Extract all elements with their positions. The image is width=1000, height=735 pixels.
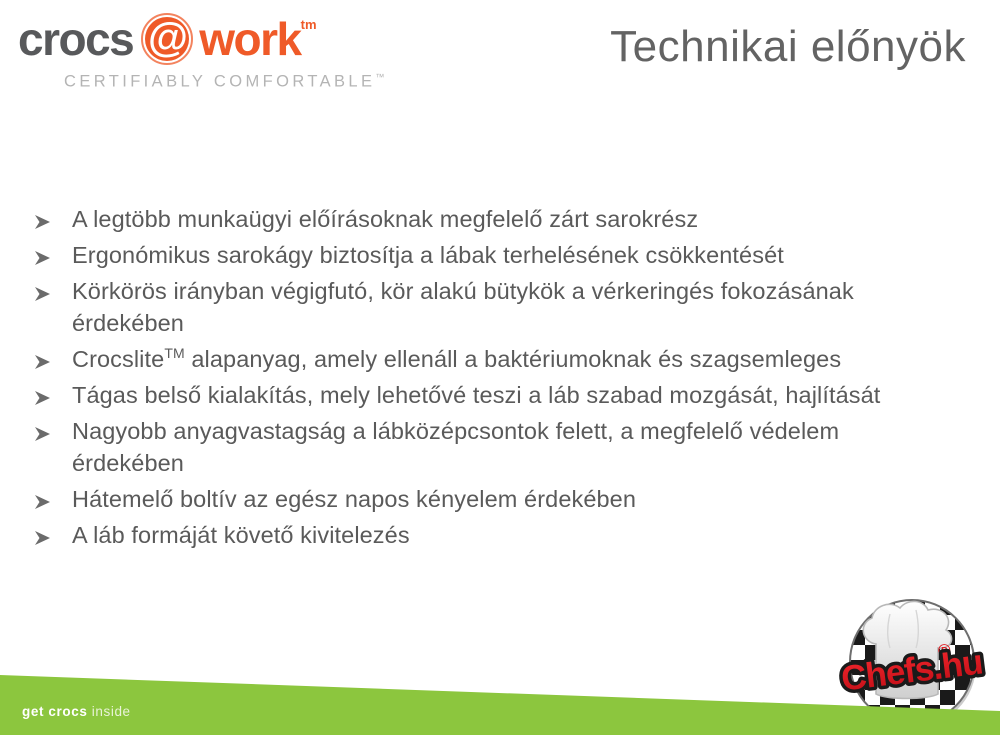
arrow-bullet-icon bbox=[34, 203, 72, 229]
crocs-at-work-logo: crocs @ work tm CERTIFIABLY COMFORTABLE™ bbox=[18, 14, 398, 92]
crocslite-rest: alapanyag, amely ellenáll a baktériumokn… bbox=[185, 346, 841, 372]
brand-wordmark: crocs @ work tm bbox=[18, 14, 398, 64]
list-item: Tágas belső kialakítás, mely lehetővé te… bbox=[34, 379, 924, 411]
brand-word-work: work bbox=[199, 16, 300, 62]
list-item: CrocsliteTM alapanyag, amely ellenáll a … bbox=[34, 343, 924, 375]
list-item: Nagyobb anyagvastagság a lábközépcsontok… bbox=[34, 415, 924, 479]
list-item-label: Körkörös irányban végigfutó, kör alakú b… bbox=[72, 275, 924, 339]
list-item: A láb formáját követő kivitelezés bbox=[34, 519, 924, 551]
at-symbol-icon: @ bbox=[141, 13, 193, 65]
brand-tagline: CERTIFIABLY COMFORTABLE™ bbox=[64, 72, 384, 92]
arrow-bullet-icon bbox=[34, 415, 72, 441]
brand-tagline-trademark: ™ bbox=[375, 72, 384, 82]
bullet-list: A legtöbb munkaügyi előírásoknak megfele… bbox=[34, 203, 924, 555]
list-item-label: Tágas belső kialakítás, mely lehetővé te… bbox=[72, 379, 924, 411]
list-item: Körkörös irányban végigfutó, kör alakú b… bbox=[34, 275, 924, 339]
arrow-bullet-icon bbox=[34, 379, 72, 405]
arrow-bullet-icon bbox=[34, 343, 72, 369]
slide-canvas: crocs @ work tm CERTIFIABLY COMFORTABLE™… bbox=[0, 0, 1000, 735]
footer-tagline-light: inside bbox=[92, 704, 131, 719]
list-item-label: A láb formáját követő kivitelezés bbox=[72, 519, 924, 551]
crocslite-trademark: TM bbox=[164, 345, 184, 361]
page-title: Technikai előnyök bbox=[610, 22, 966, 72]
arrow-bullet-icon bbox=[34, 275, 72, 301]
at-glyph: @ bbox=[141, 13, 193, 65]
footer-tagline-strong: get crocs bbox=[22, 704, 87, 719]
list-item: A legtöbb munkaügyi előírásoknak megfele… bbox=[34, 203, 924, 235]
list-item: Hátemelő boltív az egész napos kényelem … bbox=[34, 483, 924, 515]
list-item-label: Hátemelő boltív az egész napos kényelem … bbox=[72, 483, 924, 515]
list-item-label: CrocsliteTM alapanyag, amely ellenáll a … bbox=[72, 343, 924, 375]
brand-word-crocs: crocs bbox=[18, 16, 133, 62]
list-item: Ergonómikus sarokágy biztosítja a lábak … bbox=[34, 239, 924, 271]
list-item-label: A legtöbb munkaügyi előírásoknak megfele… bbox=[72, 203, 924, 235]
list-item-label: Ergonómikus sarokágy biztosítja a lábak … bbox=[72, 239, 924, 271]
arrow-bullet-icon bbox=[34, 519, 72, 545]
crocslite-name: Crocslite bbox=[72, 346, 164, 372]
brand-tagline-text: CERTIFIABLY COMFORTABLE bbox=[64, 73, 375, 91]
footer-tagline: get crocs inside bbox=[22, 704, 131, 719]
footer-green-band bbox=[0, 675, 1000, 735]
list-item-label: Nagyobb anyagvastagság a lábközépcsontok… bbox=[72, 415, 924, 479]
brand-trademark: tm bbox=[301, 18, 317, 31]
arrow-bullet-icon bbox=[34, 239, 72, 265]
arrow-bullet-icon bbox=[34, 483, 72, 509]
